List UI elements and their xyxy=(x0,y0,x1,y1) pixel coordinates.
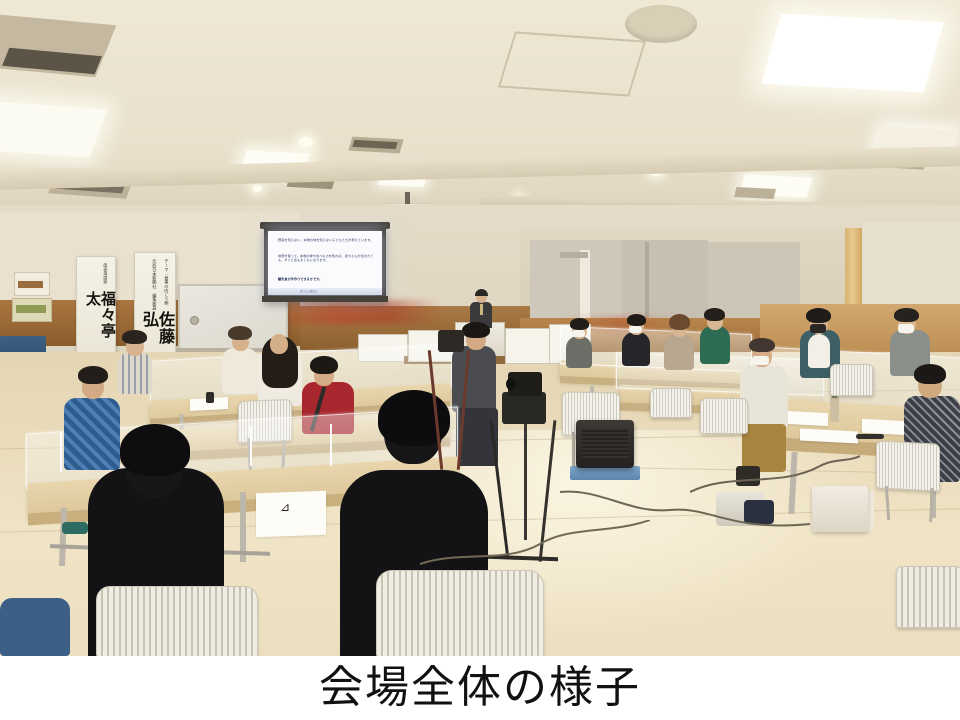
camera-operator-body xyxy=(452,346,496,412)
partition-handle xyxy=(560,252,588,258)
face-mask xyxy=(898,324,914,333)
tripod-head xyxy=(502,392,546,424)
banner-1-subtext: 南亭落語家 xyxy=(103,263,107,284)
chair-foreground xyxy=(376,570,544,656)
attendee-hair xyxy=(914,364,946,384)
divider-post xyxy=(330,424,332,466)
wall-poster-image xyxy=(16,305,46,313)
banner-2-subtext-theme: テーマ：食事の向こう側 xyxy=(164,259,168,305)
downlight-icon xyxy=(299,137,313,147)
speaker-grille xyxy=(582,428,628,460)
downlight-icon xyxy=(253,185,262,192)
ceiling-air-vent xyxy=(734,187,776,199)
camera-lens-icon xyxy=(506,378,516,390)
attendee-body xyxy=(664,334,694,370)
presenter-hair xyxy=(475,289,488,296)
chair xyxy=(700,398,748,434)
floor-cable xyxy=(420,520,650,580)
screen-bottom-band xyxy=(268,288,382,295)
attendee-body xyxy=(566,336,592,368)
banner-2-subtext-affiliation: 元西日本新聞社 編集委員 xyxy=(152,259,156,310)
attendee-hair xyxy=(704,308,725,321)
attendee-head xyxy=(270,334,288,354)
chair-foreground xyxy=(896,566,960,628)
desk-pouch xyxy=(62,522,88,534)
attendee-hair xyxy=(310,356,338,374)
screen-bottom-bar xyxy=(262,296,388,302)
tripod-head xyxy=(438,330,464,352)
face-mask xyxy=(629,326,642,333)
handout-paper xyxy=(786,411,828,426)
divider-post xyxy=(250,426,252,466)
attendee-hair xyxy=(228,326,252,340)
chair-leg xyxy=(572,432,575,468)
attendee-body-corner xyxy=(0,598,70,656)
doorway-gap xyxy=(580,250,590,322)
ceiling-light-panel xyxy=(0,100,107,157)
attendee-body xyxy=(118,352,152,394)
ceiling-light-panel xyxy=(761,14,944,93)
presenter-tie xyxy=(480,304,483,315)
attendee-body xyxy=(622,332,650,366)
partition-seam xyxy=(645,242,649,320)
attendee-hair xyxy=(627,314,646,326)
slide-paragraph-1: 野菜を知らない、本物の味を知らない子どもたちが増えています。 xyxy=(278,238,374,242)
wall-poster-image xyxy=(18,281,43,288)
attendee-body xyxy=(222,348,258,394)
display-board xyxy=(505,328,551,364)
speaker-stand xyxy=(570,466,640,480)
attendee-hair xyxy=(122,330,147,344)
wall-red-highlight xyxy=(262,300,442,324)
face-mask xyxy=(752,356,769,365)
paper-symbol-icon: ⊿ xyxy=(280,500,290,514)
attendee-hair xyxy=(78,366,108,384)
figure-caption: 会場全体の様子 xyxy=(319,666,641,710)
chair xyxy=(830,364,874,396)
whiteboard-magnet xyxy=(190,316,199,325)
attendee-body xyxy=(64,398,120,470)
figure-with-caption: 南亭落語家 福々亭 金太 テーマ：食事の向こう側 元西日本新聞社 編集委員 佐藤… xyxy=(0,0,960,720)
attendee-shirt xyxy=(808,334,830,368)
sliding-partition xyxy=(622,240,708,320)
attendee-hair xyxy=(669,314,690,330)
attendee-hair xyxy=(894,308,919,322)
face-mask xyxy=(810,324,826,333)
ceiling-speaker-icon xyxy=(625,5,697,43)
face-mask xyxy=(572,330,585,337)
chair xyxy=(650,388,692,418)
chair xyxy=(876,440,940,491)
slide-paragraph-3: 離乳食が手作りできるかです。 xyxy=(278,277,374,281)
attendee-hair xyxy=(749,338,775,352)
slide-footnote: 食べもの通信社 xyxy=(300,289,317,293)
ceiling-access-panel xyxy=(498,31,646,96)
camera-operator-hair xyxy=(462,322,490,338)
floor-cable xyxy=(690,452,860,500)
eyeglasses xyxy=(856,434,884,439)
attendee-body xyxy=(700,326,730,364)
water-bottle xyxy=(830,396,839,422)
chair-foreground xyxy=(96,586,258,656)
projection-screen: 野菜を知らない、本物の味を知らない子どもたちが増えています。 味蕾を使って、本物… xyxy=(268,231,382,295)
attendee-hair-foreground xyxy=(120,424,190,476)
caption-area: 会場全体の様子 xyxy=(0,656,960,720)
handout-paper xyxy=(862,419,908,435)
conference-room-photo: 南亭落語家 福々亭 金太 テーマ：食事の向こう側 元西日本新聞社 編集委員 佐藤… xyxy=(0,0,960,656)
slide-paragraph-2: 味蕾を使って、本物の味や食べものを知れば、赤ちゃんが生まれても、すぐに舌もまとも… xyxy=(278,254,374,263)
divider-post xyxy=(60,432,62,472)
attendee-hair xyxy=(806,308,831,323)
attendee-hair xyxy=(570,318,589,330)
desk-object xyxy=(206,392,214,403)
handout-paper-with-mark xyxy=(256,491,326,537)
